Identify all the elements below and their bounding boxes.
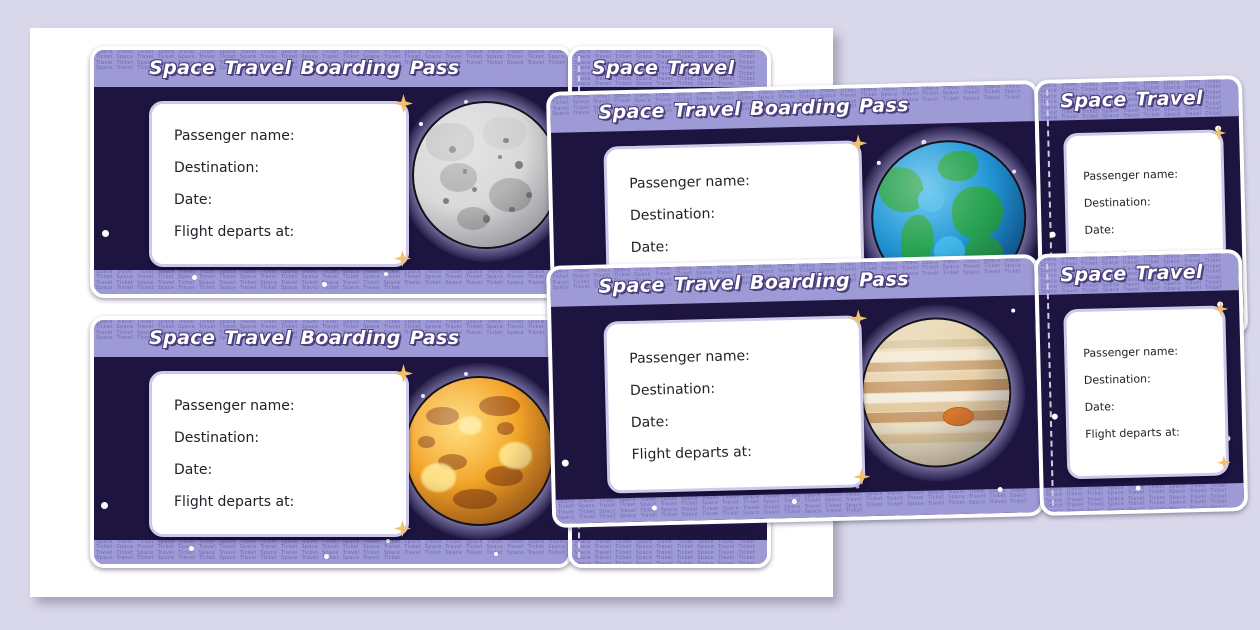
ticket-title: Space Travel Boarding Pass [94, 320, 568, 357]
star-icon [792, 499, 797, 504]
star-icon [494, 552, 498, 556]
ticket-title: Space Travel Boarding Pass [550, 258, 1035, 307]
field-destination: Destination: [630, 377, 860, 399]
star-icon [192, 275, 197, 280]
field-destination: Destination: [174, 160, 406, 176]
jupiter-planet [859, 316, 1013, 470]
band-repeat-text: Space Travel Ticket Space Travel Ticket … [96, 540, 565, 561]
field-flight-departs: Flight departs at: [174, 494, 406, 510]
perforation-line [1046, 264, 1054, 506]
canvas: Space Travel Ticket Space Travel Ticket … [0, 0, 1260, 630]
ticket-main-venus[interactable]: Space Travel Ticket Space Travel Ticket … [90, 316, 572, 568]
ticket-band-bottom: Space Travel Ticket Space Travel Ticket … [94, 270, 568, 294]
ticket-stub-title: Space Travel [1038, 253, 1239, 295]
venus-planet [404, 376, 554, 526]
field-passenger-name: Passenger name: [1083, 343, 1223, 359]
band-repeat-text: Space Travel Ticket Space Travel Ticket … [574, 540, 755, 564]
star-icon [386, 539, 390, 543]
moon-planet [412, 101, 560, 249]
field-date: Date: [631, 409, 861, 431]
ticket-band-top: Space Travel Ticket Space Travel Ticket … [550, 84, 1035, 133]
ticket-main-jupiter[interactable]: Space Travel Ticket Space Travel Ticket … [546, 254, 1044, 528]
boarding-pass-ticket-jupiter[interactable]: Space Travel Ticket Space Travel Ticket … [546, 249, 1248, 528]
field-destination: Destination: [630, 202, 860, 224]
field-date: Date: [174, 192, 406, 208]
star-icon [1052, 414, 1058, 420]
ticket-stub-title: Space Travel [1038, 79, 1239, 121]
field-passenger-name: Passenger name: [629, 170, 859, 192]
planet-body [404, 376, 554, 526]
passenger-details-box[interactable]: Passenger name: Destination: Date: Fligh… [149, 371, 409, 537]
star-icon [562, 460, 569, 467]
ticket-band-bottom: Space Travel Ticket Space Travel Ticket … [556, 488, 1040, 524]
field-flight-departs: Flight departs at: [174, 224, 406, 240]
field-date: Date: [1084, 397, 1224, 413]
field-date: Date: [1084, 221, 1222, 237]
ticket-band-top: Space Travel Ticket Space Travel Ticket … [94, 50, 568, 87]
star-icon [324, 554, 329, 559]
ticket-band-top: Space Travel Ticket Space Travel Ticket … [572, 50, 767, 87]
ticket-title: Space Travel Boarding Pass [94, 50, 568, 87]
passenger-details-box[interactable]: Passenger name: Destination: Date: Fligh… [603, 315, 865, 493]
ticket-stub-jupiter[interactable]: Space Travel Ticket Space Travel Ticket … [1034, 249, 1248, 516]
ticket-band-top: Space Travel Ticket Space Travel Ticket … [1038, 253, 1239, 295]
star-icon [1050, 232, 1056, 238]
field-passenger-name: Passenger name: [1083, 167, 1221, 183]
field-destination: Destination: [174, 430, 406, 446]
ticket-main-moon[interactable]: Space Travel Ticket Space Travel Ticket … [90, 46, 572, 298]
ticket-band-bottom: Space Travel Ticket Space Travel Ticket … [572, 540, 767, 564]
field-passenger-name: Passenger name: [629, 345, 859, 367]
ticket-band-top: Space Travel Ticket Space Travel Ticket … [550, 258, 1035, 307]
field-passenger-name: Passenger name: [174, 398, 406, 414]
planet-body [859, 316, 1013, 470]
star-icon [101, 502, 108, 509]
ticket-band-top: Space Travel Ticket Space Travel Ticket … [1038, 79, 1239, 121]
field-flight-departs: Flight departs at: [631, 441, 861, 463]
ticket-stub-title: Space Travel [572, 50, 767, 87]
band-repeat-text: Space Travel Ticket Space Travel Ticket … [96, 270, 565, 291]
star-icon [652, 505, 657, 510]
star-icon [1011, 309, 1015, 313]
star-icon [322, 282, 327, 287]
field-date: Date: [174, 462, 406, 478]
field-flight-departs: Flight departs at: [1085, 424, 1225, 440]
ticket-band-bottom: Space Travel Ticket Space Travel Ticket … [1044, 483, 1245, 512]
planet-body [412, 101, 560, 249]
star-icon [102, 230, 109, 237]
stub-details-box[interactable]: Passenger name: Destination: Date: Fligh… [1063, 305, 1229, 479]
passenger-details-box[interactable]: Passenger name: Destination: Date: Fligh… [149, 101, 409, 267]
field-date: Date: [631, 234, 861, 256]
star-icon [998, 487, 1003, 492]
field-passenger-name: Passenger name: [174, 128, 406, 144]
star-icon [189, 546, 194, 551]
ticket-band-top: Space Travel Ticket Space Travel Ticket … [94, 320, 568, 357]
field-destination: Destination: [1084, 194, 1222, 210]
ticket-title: Space Travel Boarding Pass [550, 84, 1035, 133]
star-icon [384, 272, 388, 276]
field-destination: Destination: [1084, 370, 1224, 386]
